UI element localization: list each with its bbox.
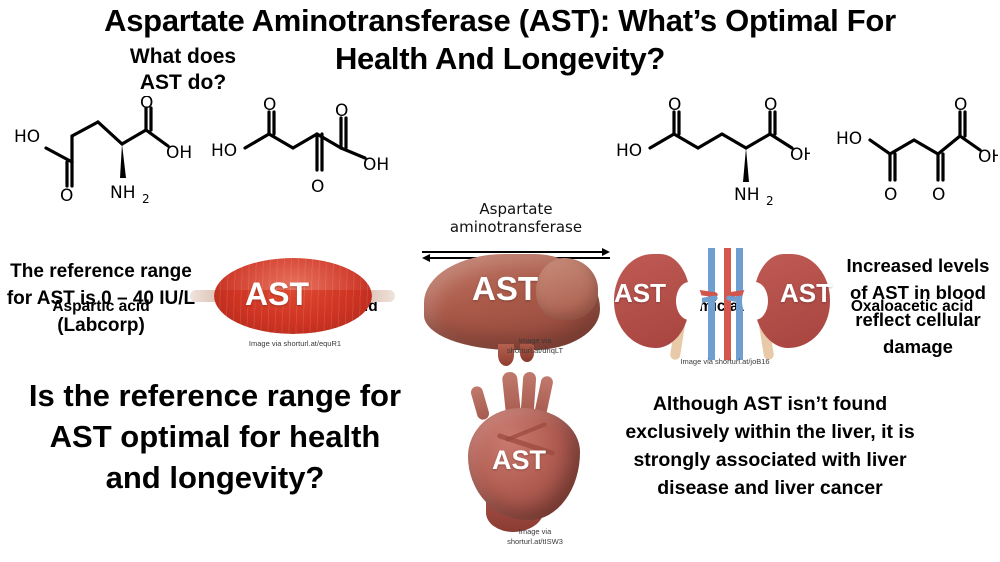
atom-label-o-2: O	[140, 96, 153, 113]
structure-oxaloacetic-acid: HO O O O OH	[828, 96, 998, 211]
glutamic-acid-svg: HO O O OH NH 2	[610, 96, 810, 206]
atom-label-o-6: O	[668, 96, 681, 115]
what-does-ast-do-label: What does AST do?	[88, 44, 278, 96]
kidneys-image-credit: Image via shorturl.at/joB16	[625, 357, 825, 367]
kidney-vein-left	[708, 248, 715, 360]
liver-ast-label: AST	[472, 270, 538, 308]
atom-label-ho-4: HO	[836, 129, 862, 149]
atom-label-nh2-2-sub: 2	[766, 194, 774, 206]
kidney-aorta	[724, 248, 731, 360]
atom-label-o-8: O	[884, 185, 897, 205]
atom-label-nh2-2: NH	[734, 185, 760, 205]
atom-label-o-5: O	[311, 177, 324, 197]
liver-association-callout: Although AST isn’t found exclusively wit…	[620, 390, 920, 502]
reference-range-callout: The reference range for AST is 0 – 40 IU…	[6, 258, 196, 339]
structure-alpha-ketoglutaric-acid: HO O O O OH	[205, 96, 405, 211]
kidney-ast-label-left: AST	[614, 278, 666, 309]
atom-label-oh-2: OH	[363, 155, 389, 175]
kidneys-image: AST AST	[612, 248, 832, 360]
atom-label-nh2-sub: 2	[142, 192, 150, 206]
atom-label-ho-2: HO	[211, 141, 237, 161]
liver-right-lobe	[536, 258, 598, 320]
heart-image-credit: Image via shorturl.at/tISW3	[485, 527, 585, 547]
page-title-line-1: Aspartate Aminotransferase (AST): What’s…	[104, 3, 896, 38]
heart-image: AST	[452, 372, 602, 532]
kidney-ast-label-right: AST	[780, 278, 832, 309]
atom-label-o-1: O	[60, 186, 73, 206]
reaction-diagram: HO O O OH NH 2	[0, 96, 1000, 226]
atom-label-o-3: O	[263, 96, 276, 115]
big-question-callout: Is the reference range for AST optimal f…	[20, 375, 410, 498]
atom-label-nh2: NH	[110, 183, 136, 203]
enzyme-name: Aspartate aminotransferase	[418, 200, 614, 236]
ketoglutaric-acid-svg: HO O O O OH	[205, 96, 405, 206]
atom-label-o-4: O	[335, 101, 348, 121]
atom-label-ho-3: HO	[616, 141, 642, 161]
atom-label-oh-4: OH	[978, 147, 998, 167]
liver-image-credit: Image via shorturl.at/dnqLT	[480, 336, 590, 356]
atom-label-oh-3: OH	[790, 145, 810, 165]
increased-levels-callout: Increased levels of AST in blood reflect…	[838, 252, 998, 360]
heart-vessel-4	[470, 385, 491, 421]
atom-label-oh-1: OH	[166, 143, 192, 163]
muscle-image-credit: Image via shorturl.at/equR1	[200, 339, 390, 349]
atom-label-ho-1: HO	[14, 127, 40, 147]
muscle-ast-label: AST	[245, 276, 309, 313]
muscle-image: AST	[190, 256, 395, 336]
structure-aspartic-acid: HO O O OH NH 2	[10, 96, 200, 211]
oxaloacetic-acid-svg: HO O O O OH	[828, 96, 998, 206]
atom-label-o-7: O	[764, 96, 777, 115]
infographic-canvas: Aspartate Aminotransferase (AST): What’s…	[0, 0, 1000, 562]
aspartic-acid-svg: HO O O OH NH 2	[10, 96, 200, 206]
heart-ast-label: AST	[492, 445, 546, 476]
structure-glutamic-acid: HO O O OH NH 2	[610, 96, 810, 211]
atom-label-o-10: O	[954, 96, 967, 115]
atom-label-o-9: O	[932, 185, 945, 205]
